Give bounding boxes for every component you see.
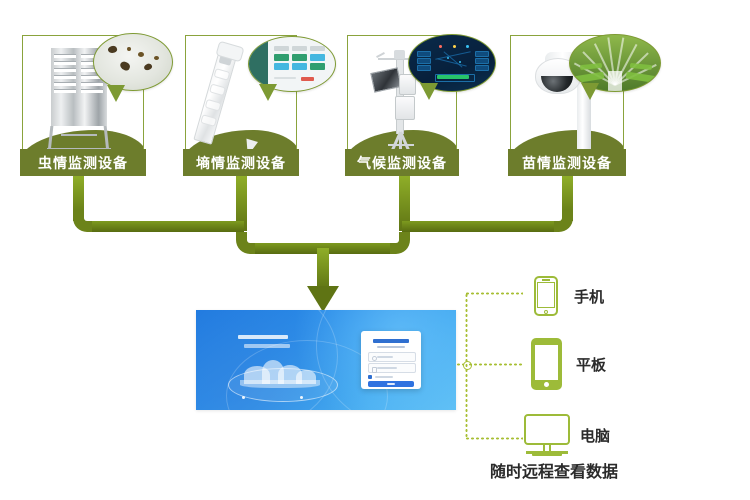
screen-subline [244,344,290,348]
callout-tail [107,85,125,102]
connector-bar-outer-right [402,221,554,232]
device-label-monitor: 电脑 [580,425,610,446]
login-title [373,339,409,343]
device-label-phone: 手机 [574,286,604,307]
device-row-tablet[interactable]: 平板 [531,338,606,390]
tablet-icon [531,338,562,390]
table-sidebar [249,37,268,91]
password-input[interactable] [368,363,416,373]
panel-label-insect: 虫情监测设备 [20,149,146,176]
screen-headline [238,335,288,339]
dotted-branch-phone [465,292,523,295]
device-row-monitor[interactable]: 电脑 [524,412,610,458]
dotted-branch-monitor [465,437,523,440]
connector-bar-outer-left [92,221,244,232]
connector-trunk [317,248,329,290]
remember-me-label [375,376,393,378]
flow-arrow-head [307,286,339,312]
device-row-phone[interactable]: 手机 [534,276,604,316]
callout-tail [581,83,599,100]
phone-icon [534,276,558,316]
connector-elbow-inner-right [388,232,410,254]
callout-tail [420,83,438,100]
connector-elbow-right [551,210,573,232]
diagram-canvas: 虫情监测设备 墒情监测设备 气候监测设备 苗情监测设备 [0,0,750,500]
device-label-tablet: 平板 [576,354,606,375]
platform-login-screen[interactable] [196,310,456,410]
login-card[interactable] [361,331,421,389]
dotted-vertical-trunk [465,293,468,439]
callout-insect-photo [93,33,173,91]
username-input[interactable] [368,352,416,362]
dotted-branch-tablet [468,363,523,366]
monitor-icon [524,414,570,456]
login-button[interactable] [368,381,414,387]
panel-label-climate: 气候监测设备 [345,149,459,176]
panel-label-crop: 苗情监测设备 [508,149,626,176]
remember-me-checkbox[interactable] [368,375,372,379]
callout-tail [259,84,277,101]
login-subtitle [377,346,405,348]
panel-label-soil: 墒情监测设备 [183,149,299,176]
remote-access-caption: 随时远程查看数据 [490,458,618,482]
